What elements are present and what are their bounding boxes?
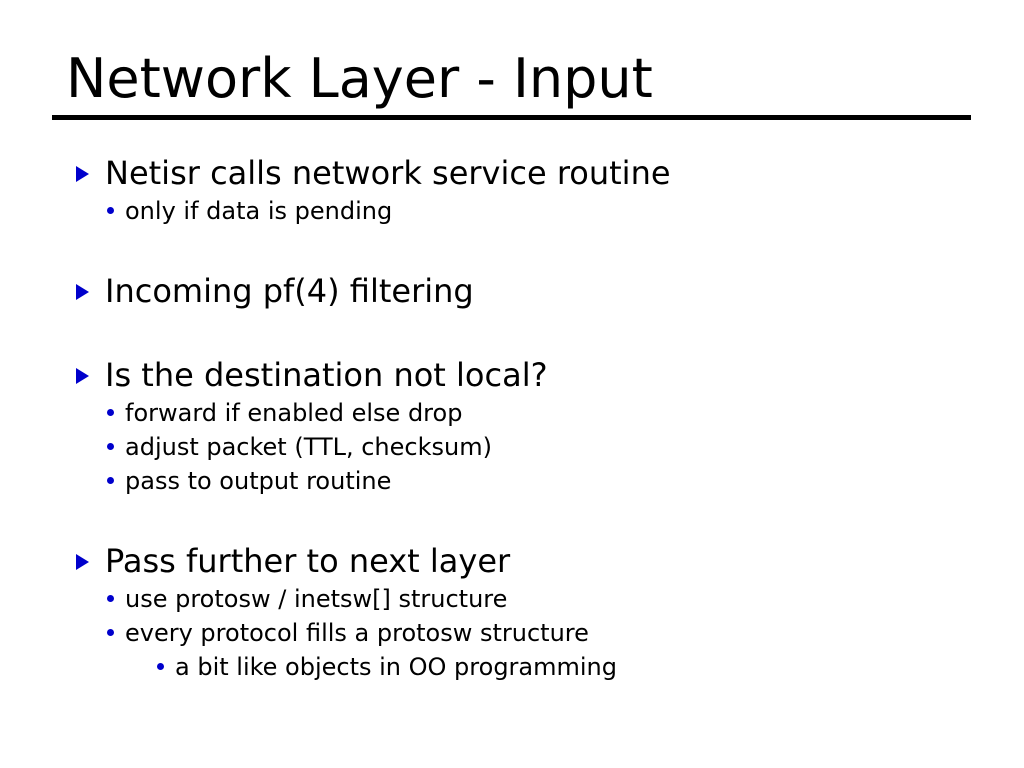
bullet-item-level-1: Netisr calls network service routine	[0, 152, 1024, 194]
triangle-right-icon	[76, 540, 105, 582]
disc-bullet-glyph	[107, 477, 114, 484]
bullet-item-level-2: every protocol fills a protosw structure	[0, 616, 1024, 650]
bullet-group: Is the destination not local?forward if …	[0, 354, 1024, 498]
disc-bullet-icon	[106, 430, 125, 464]
disc-bullet-glyph	[107, 629, 114, 636]
disc-bullet-icon	[106, 464, 125, 498]
bullet-text: adjust packet (TTL, checksum)	[125, 430, 492, 464]
disc-bullet-icon	[106, 582, 125, 616]
bullet-text: pass to output routine	[125, 464, 391, 498]
bullet-list: Netisr calls network service routineonly…	[0, 152, 1024, 684]
bullet-group: Netisr calls network service routineonly…	[0, 152, 1024, 228]
triangle-right-icon	[76, 354, 105, 396]
bullet-item-level-2: only if data is pending	[0, 194, 1024, 228]
title-block: Network Layer - Input	[52, 48, 972, 120]
bullet-item-level-2: pass to output routine	[0, 464, 1024, 498]
bullet-text: use protosw / inetsw[] structure	[125, 582, 507, 616]
triangle-right-icon	[76, 270, 105, 312]
bullet-item-level-2: use protosw / inetsw[] structure	[0, 582, 1024, 616]
disc-bullet-glyph	[107, 409, 114, 416]
disc-bullet-icon	[106, 616, 125, 650]
bullet-text: a bit like objects in OO programming	[175, 650, 617, 684]
disc-bullet-glyph	[107, 207, 114, 214]
triangle-right-glyph	[76, 368, 89, 384]
bullet-text: forward if enabled else drop	[125, 396, 462, 430]
triangle-right-icon	[76, 152, 105, 194]
title-divider	[52, 115, 971, 120]
bullet-text: Is the destination not local?	[105, 354, 548, 396]
bullet-text: Netisr calls network service routine	[105, 152, 671, 194]
bullet-item-level-1: Incoming pf(4) filtering	[0, 270, 1024, 312]
triangle-right-glyph	[76, 554, 89, 570]
disc-bullet-glyph	[157, 663, 164, 670]
bullet-item-level-2: forward if enabled else drop	[0, 396, 1024, 430]
bullet-item-level-1: Is the destination not local?	[0, 354, 1024, 396]
triangle-right-glyph	[76, 166, 89, 182]
bullet-text: Pass further to next layer	[105, 540, 510, 582]
disc-bullet-icon	[106, 194, 125, 228]
bullet-text: Incoming pf(4) filtering	[105, 270, 474, 312]
disc-bullet-icon	[156, 650, 175, 684]
disc-bullet-glyph	[107, 443, 114, 450]
bullet-item-level-3: a bit like objects in OO programming	[0, 650, 1024, 684]
bullet-text: every protocol fills a protosw structure	[125, 616, 589, 650]
bullet-item-level-2: adjust packet (TTL, checksum)	[0, 430, 1024, 464]
page-title: Network Layer - Input	[52, 48, 972, 110]
bullet-text: only if data is pending	[125, 194, 392, 228]
bullet-group: Pass further to next layeruse protosw / …	[0, 540, 1024, 684]
triangle-right-glyph	[76, 284, 89, 300]
disc-bullet-icon	[106, 396, 125, 430]
disc-bullet-glyph	[107, 595, 114, 602]
bullet-group: Incoming pf(4) filtering	[0, 270, 1024, 312]
slide: Network Layer - Input Netisr calls netwo…	[0, 0, 1024, 768]
bullet-item-level-1: Pass further to next layer	[0, 540, 1024, 582]
